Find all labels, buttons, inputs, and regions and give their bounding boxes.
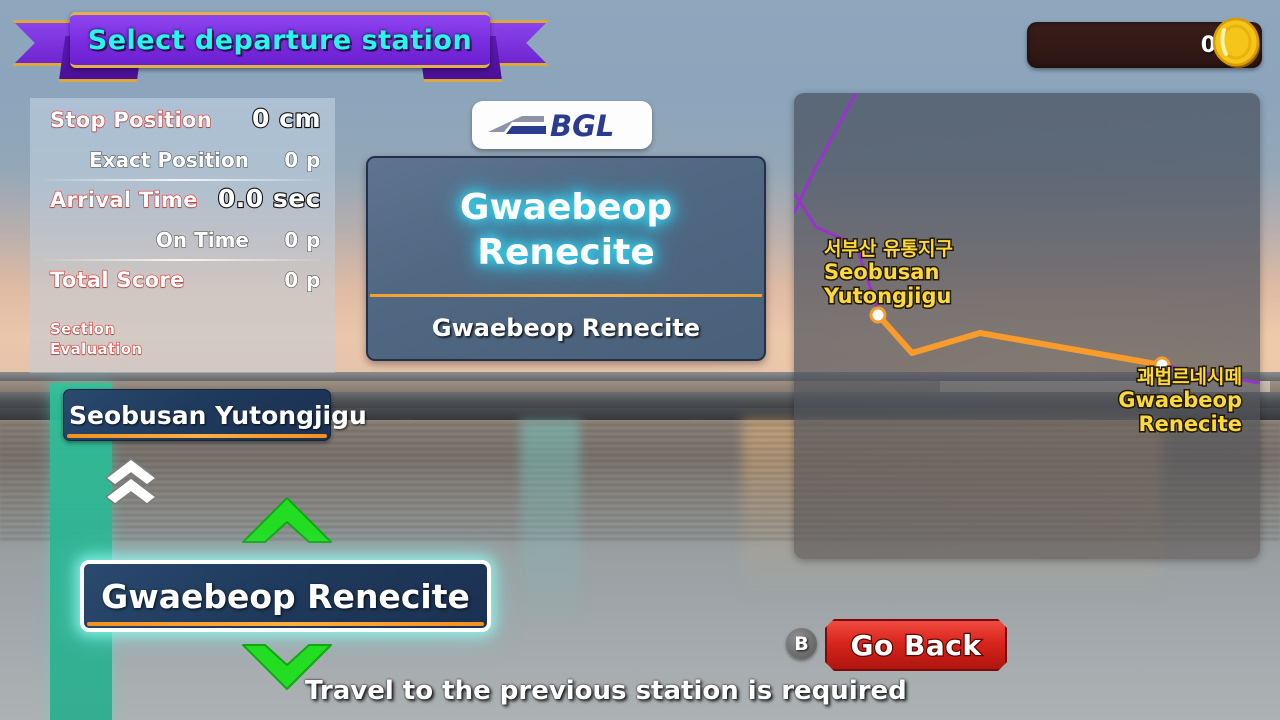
background-water-teal-reflection [520, 420, 580, 620]
section-evaluation-line2: Evaluation [50, 340, 142, 359]
map-label-korean: 서부산 유통지구 [824, 239, 953, 261]
banner-body: Select departure station [70, 12, 490, 68]
stat-label: Arrival Time [50, 188, 198, 212]
section-evaluation-line1: Section [50, 320, 115, 339]
stat-row-total-score: Total Score 0 p [40, 264, 325, 302]
station-sign-subtitle: Gwaebeop Renecite [368, 297, 764, 359]
divider [44, 259, 321, 261]
status-hint-text: Travel to the previous station is requir… [305, 676, 907, 706]
branch-line-top [794, 93, 856, 213]
bgl-logo-text: BGL [550, 109, 614, 142]
go-back-button-label: Go Back [851, 629, 982, 662]
route-map-panel: 서부산 유통지구 Seobusan Yutongjigu 괘법르네시떼 Gwae… [794, 93, 1260, 559]
station-option-label: Seobusan Yutongjigu [64, 401, 367, 430]
stat-value: 0 p [284, 268, 321, 292]
page-title: Select departure station [88, 25, 472, 56]
game-screen: Select departure station 0 Stop Position… [0, 0, 1280, 720]
station-name-sign: Gwaebeop Renecite Gwaebeop Renecite [366, 156, 766, 361]
map-station-label-seobusan: 서부산 유통지구 Seobusan Yutongjigu [824, 239, 953, 309]
station-option-previous[interactable]: Seobusan Yutongjigu [63, 389, 331, 441]
divider [44, 179, 321, 181]
gamepad-b-button-icon[interactable]: B [786, 628, 817, 659]
stat-label: Total Score [50, 268, 185, 292]
station-option-selected[interactable]: Gwaebeop Renecite [80, 560, 491, 632]
section-evaluation: Section Evaluation [40, 320, 325, 370]
station-option-label: Gwaebeop Renecite [84, 577, 487, 616]
map-label-english-line1: Seobusan [824, 261, 953, 285]
route-map-graphic [794, 93, 1260, 559]
bgl-logo: BGL [482, 108, 642, 142]
score-panel: Stop Position 0 cm Exact Position 0 p Ar… [30, 98, 335, 373]
stat-sub-label: On Time [156, 228, 249, 252]
stat-row-stop-position: Stop Position 0 cm [40, 104, 325, 142]
stat-row-on-time: On Time 0 p [40, 222, 325, 258]
main-route-line [878, 315, 1162, 365]
map-label-english-line1: Gwaebeop [1118, 389, 1242, 413]
station-sign-main: Gwaebeop Renecite [368, 158, 764, 294]
stat-sub-value: 0 p [284, 148, 321, 172]
station-dot-seobusan [871, 308, 885, 322]
stat-sub-label: Exact Position [89, 148, 249, 172]
scroll-up-double-chevron-icon[interactable] [100, 455, 162, 505]
stat-value: 0 cm [252, 104, 321, 133]
map-label-english-line2: Renecite [1118, 413, 1242, 437]
map-label-korean: 괘법르네시떼 [1118, 367, 1242, 389]
stat-sub-value: 0 p [284, 228, 321, 252]
map-station-label-gwaebeop: 괘법르네시떼 Gwaebeop Renecite [1118, 367, 1242, 437]
banner: Select departure station [8, 6, 553, 84]
station-name-line1: Gwaebeop [460, 185, 672, 230]
select-previous-chevron-icon[interactable] [235, 492, 339, 550]
stat-row-arrival-time: Arrival Time 0.0 sec [40, 184, 325, 222]
stat-label: Stop Position [50, 108, 212, 132]
map-label-english-line2: Yutongjigu [824, 285, 953, 309]
coin-icon [1208, 14, 1266, 72]
operator-logo-badge: BGL [472, 101, 652, 149]
station-name-line2: Renecite [477, 230, 655, 275]
go-back-button[interactable]: Go Back [825, 619, 1007, 671]
stat-row-exact-position: Exact Position 0 p [40, 142, 325, 178]
stat-value: 0.0 sec [218, 184, 321, 213]
